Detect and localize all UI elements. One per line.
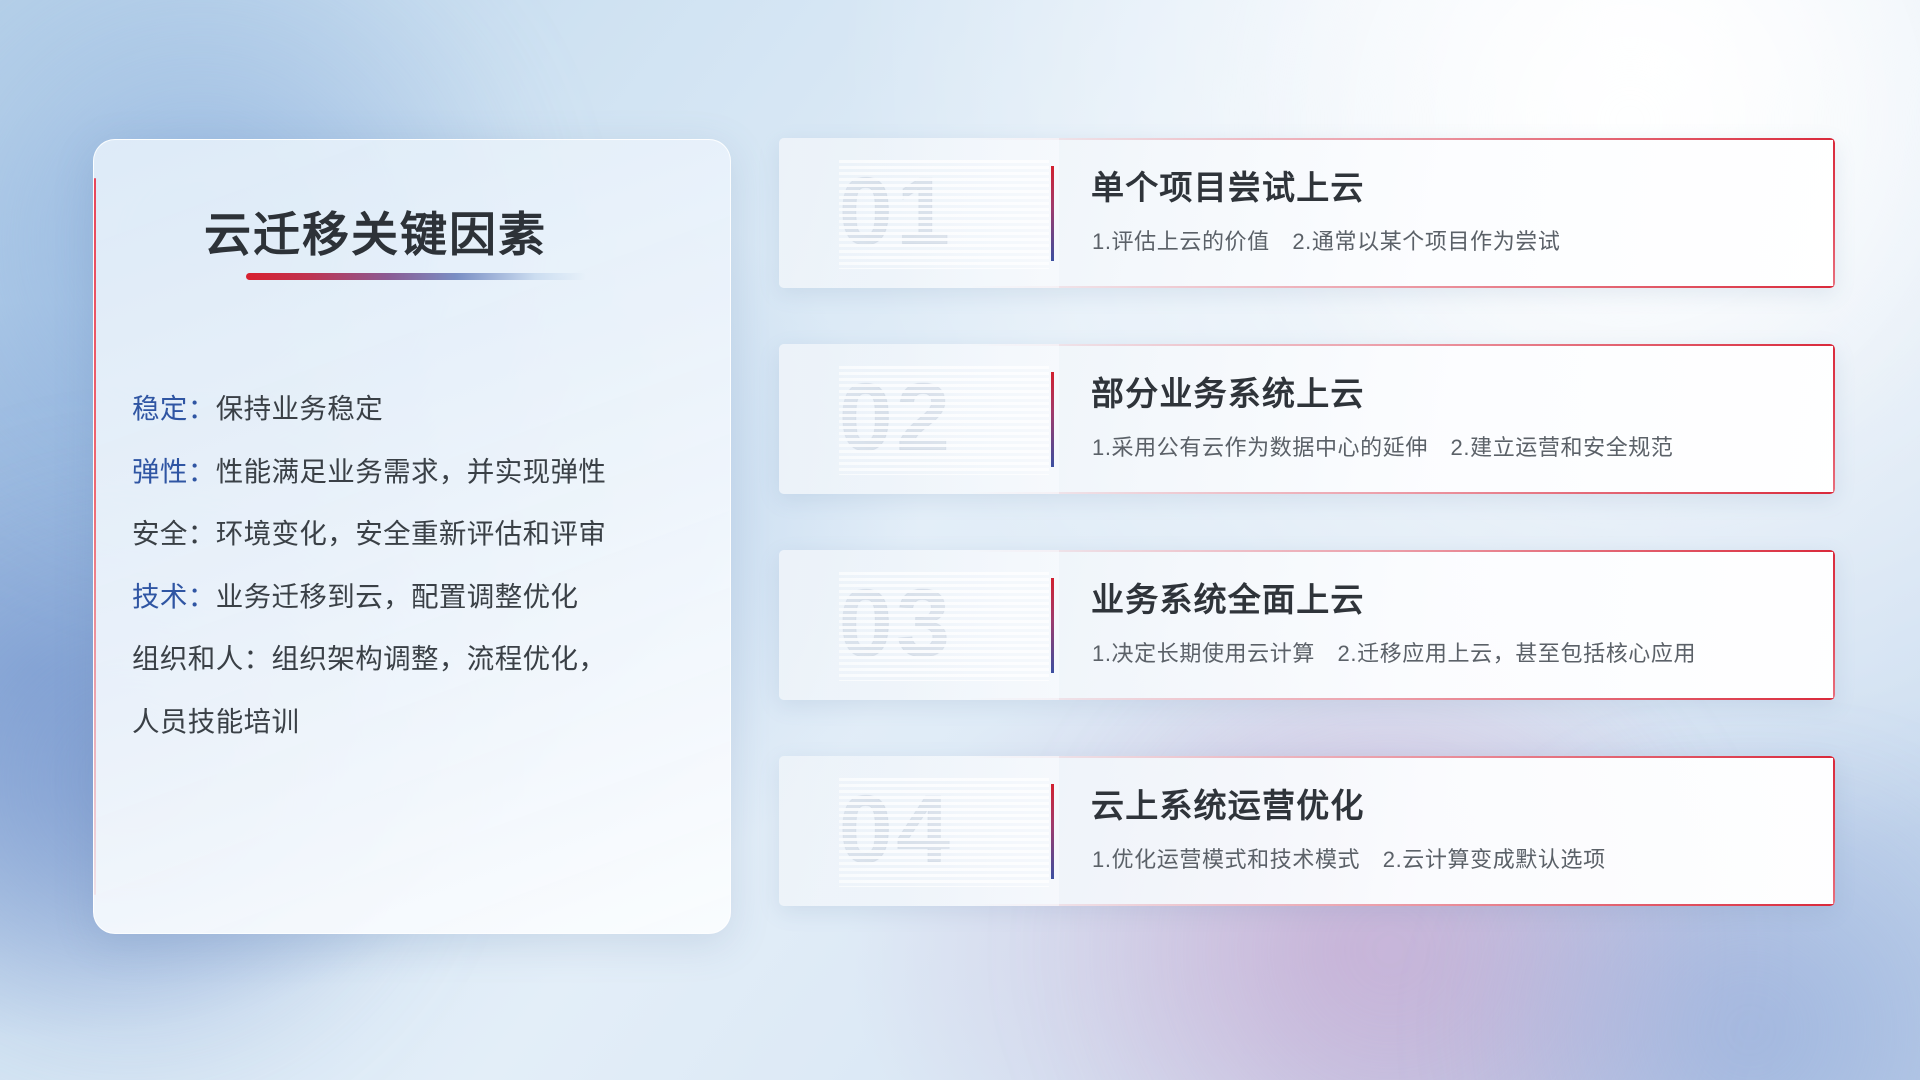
key-factors-panel: 云迁移关键因素 稳定：保持业务稳定 弹性：性能满足业务需求，并实现弹性 安全：环… [93,139,731,934]
card-accent-bottom [969,698,1835,700]
fact-text: 性能满足业务需求，并实现弹性 [216,456,607,487]
card-accent-top [969,344,1835,346]
fact-label: 弹性： [132,456,216,487]
stage-number: 03 [839,569,954,679]
fact-text: 组织架构调整，流程优化， [272,643,607,674]
list-item: 弹性：性能满足业务需求，并实现弹性 [132,441,710,504]
list-item: 稳定：保持业务稳定 [132,378,710,441]
stage-subtitle: 1.优化运营模式和技术模式 2.云计算变成默认选项 [1092,842,1606,874]
fact-text: 环境变化，安全重新评估和评审 [216,518,607,549]
card-accent-edge [1833,344,1835,494]
stage-number-wrap: 02 [779,344,1059,494]
fact-label: 稳定： [132,393,216,424]
list-item: 安全：环境变化，安全重新评估和评审 [132,503,710,566]
fact-label: 技术： [132,581,216,612]
title-underline-gradient [246,273,586,280]
stage-subtitle: 1.采用公有云作为数据中心的延伸 2.建立运营和安全规范 [1092,430,1674,462]
stage-subtitle: 1.评估上云的价值 2.通常以某个项目作为尝试 [1092,224,1561,256]
stage-number-wrap: 04 [779,756,1059,906]
card-accent-edge [1833,138,1835,288]
fact-text: 保持业务稳定 [216,393,383,424]
card-divider-icon [1051,372,1054,467]
stage-title: 部分业务系统上云 [1091,367,1365,415]
page-title: 云迁移关键因素 [204,196,547,265]
stage-card-01[interactable]: 01 单个项目尝试上云 1.评估上云的价值 2.通常以某个项目作为尝试 [779,138,1835,288]
stage-title: 业务系统全面上云 [1091,573,1365,621]
card-accent-edge [1833,550,1835,700]
stage-card-04[interactable]: 04 云上系统运营优化 1.优化运营模式和技术模式 2.云计算变成默认选项 [779,756,1835,906]
stage-number-wrap: 01 [779,138,1059,288]
card-accent-top [969,550,1835,552]
card-accent-top [969,756,1835,758]
stage-number: 01 [839,157,954,267]
list-item: 组织和人：组织架构调整，流程优化， [132,628,710,691]
list-item: 技术：业务迁移到云，配置调整优化 [132,566,710,629]
card-accent-bottom [969,904,1835,906]
stage-number: 02 [839,363,954,473]
stage-number-wrap: 03 [779,550,1059,700]
card-divider-icon [1051,166,1054,261]
stage-subtitle: 1.决定长期使用云计算 2.迁移应用上云，甚至包括核心应用 [1092,636,1696,668]
fact-text: 人员技能培训 [132,706,299,737]
card-accent-edge [1833,756,1835,906]
key-factors-list: 稳定：保持业务稳定 弹性：性能满足业务需求，并实现弹性 安全：环境变化，安全重新… [132,378,710,753]
fact-text: 业务迁移到云，配置调整优化 [216,581,579,612]
migration-stage-cards: 01 单个项目尝试上云 1.评估上云的价值 2.通常以某个项目作为尝试 02 部… [779,138,1835,962]
stage-title: 云上系统运营优化 [1091,779,1365,827]
card-divider-icon [1051,784,1054,879]
card-accent-bottom [969,286,1835,288]
card-accent-bottom [969,492,1835,494]
card-divider-icon [1051,578,1054,673]
stage-title: 单个项目尝试上云 [1091,161,1365,209]
card-accent-top [969,138,1835,140]
stage-number: 04 [839,775,954,885]
stage-card-02[interactable]: 02 部分业务系统上云 1.采用公有云作为数据中心的延伸 2.建立运营和安全规范 [779,344,1835,494]
fact-label: 安全： [132,518,216,549]
list-item: 人员技能培训 [132,691,710,754]
fact-label: 组织和人： [132,643,272,674]
stage-card-03[interactable]: 03 业务系统全面上云 1.决定长期使用云计算 2.迁移应用上云，甚至包括核心应… [779,550,1835,700]
